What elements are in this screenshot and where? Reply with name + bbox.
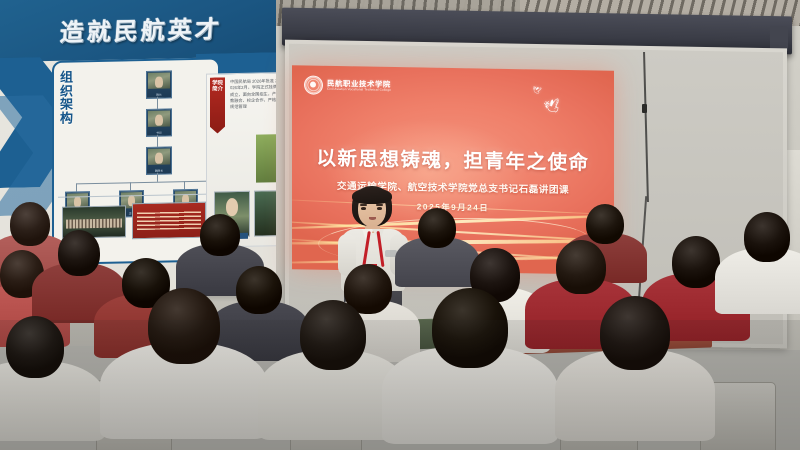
- logo-institution-en: Civil Aviation Vocational Technical Coll…: [327, 88, 391, 92]
- speaker-mouth: [369, 217, 376, 220]
- speaker-eye-right: [377, 207, 382, 210]
- slide-institution-logo: 民航职业技术学院 Civil Aviation Vocational Techn…: [304, 75, 391, 96]
- attendee-head: [236, 266, 282, 314]
- org-node: 院长: [146, 70, 172, 99]
- poster-banner-text: 学院简介: [212, 81, 223, 93]
- poster-image: [256, 134, 276, 183]
- attendee-head: [586, 204, 624, 244]
- seal-emblem-icon: [304, 75, 323, 94]
- attendee-head: [10, 202, 50, 246]
- org-node: 副院长: [146, 146, 172, 175]
- org-chart-title: 组织架构: [60, 70, 80, 125]
- screenshot-scene: 造就民航英才 组织架构 院长 书记 副院长 主任 主任 主任 主任: [0, 0, 800, 450]
- attendee-head: [672, 236, 720, 288]
- poster-body-text: 中国民航局 2026年批准 2026年2月，学院正式挂牌成立，面向全国招生，产教…: [230, 78, 276, 110]
- cable-clip: [642, 104, 647, 113]
- speaker-eye-left: [361, 207, 366, 210]
- attendee-head: [200, 214, 240, 256]
- slide-title: 以新思想铸魂，担青年之使命: [292, 141, 614, 176]
- org-node: 书记: [146, 108, 172, 137]
- attendee-head: [744, 212, 790, 262]
- board-headline: 造就民航英才: [59, 9, 223, 47]
- speaker-brow-left: [360, 204, 367, 206]
- dove-icon: 🕊: [543, 98, 562, 114]
- audience-foreground-shadow: [0, 320, 800, 450]
- attendee-head: [556, 240, 606, 294]
- attendee-head: [58, 230, 100, 276]
- speaker-brow-right: [376, 204, 383, 206]
- attendee-head: [418, 208, 456, 248]
- speaker-hair-fringe: [352, 188, 392, 204]
